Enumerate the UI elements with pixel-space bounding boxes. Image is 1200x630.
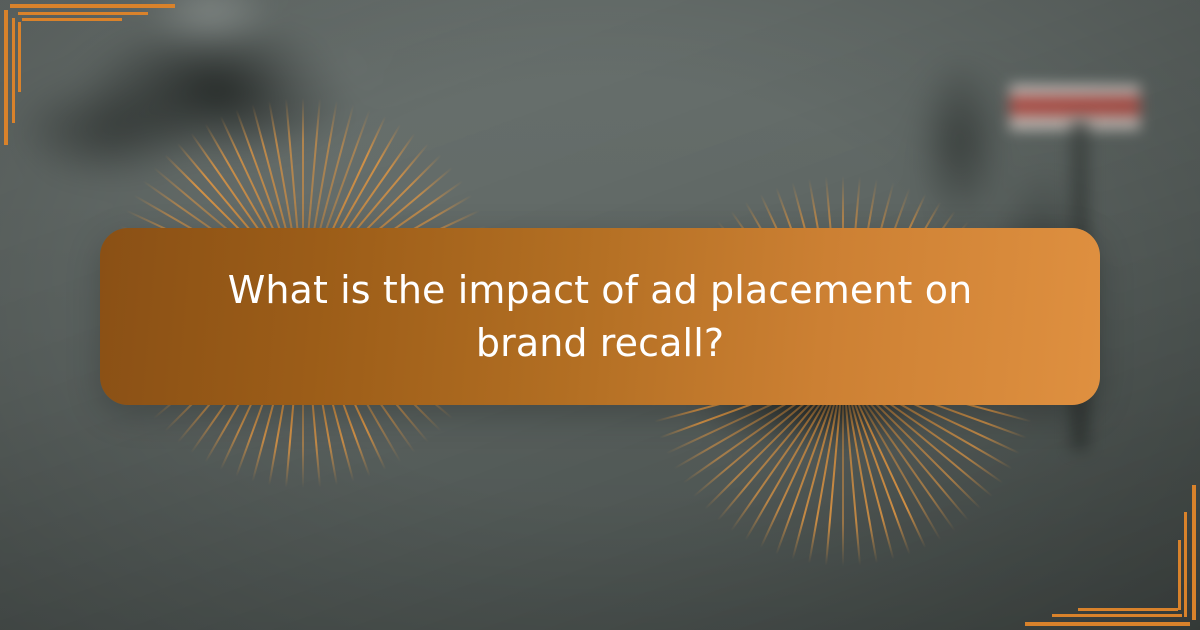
corner-accent-line — [1192, 485, 1196, 620]
corner-accent-line — [1025, 622, 1190, 626]
corner-accent-line — [4, 10, 8, 145]
question-card: What is the impact of ad placement on br… — [100, 228, 1100, 405]
corner-accent-line — [1184, 512, 1187, 617]
corner-accent-line — [1178, 540, 1181, 610]
corner-accent-line — [12, 18, 15, 123]
corner-accent-line — [18, 12, 148, 15]
question-title: What is the impact of ad placement on br… — [205, 264, 995, 369]
poster-canvas: What is the impact of ad placement on br… — [0, 0, 1200, 630]
corner-accent-line — [22, 18, 122, 21]
corner-accent-line — [1052, 614, 1182, 617]
corner-accent-line — [10, 4, 175, 8]
corner-accent-line — [1078, 608, 1178, 611]
corner-accent-line — [18, 22, 21, 92]
